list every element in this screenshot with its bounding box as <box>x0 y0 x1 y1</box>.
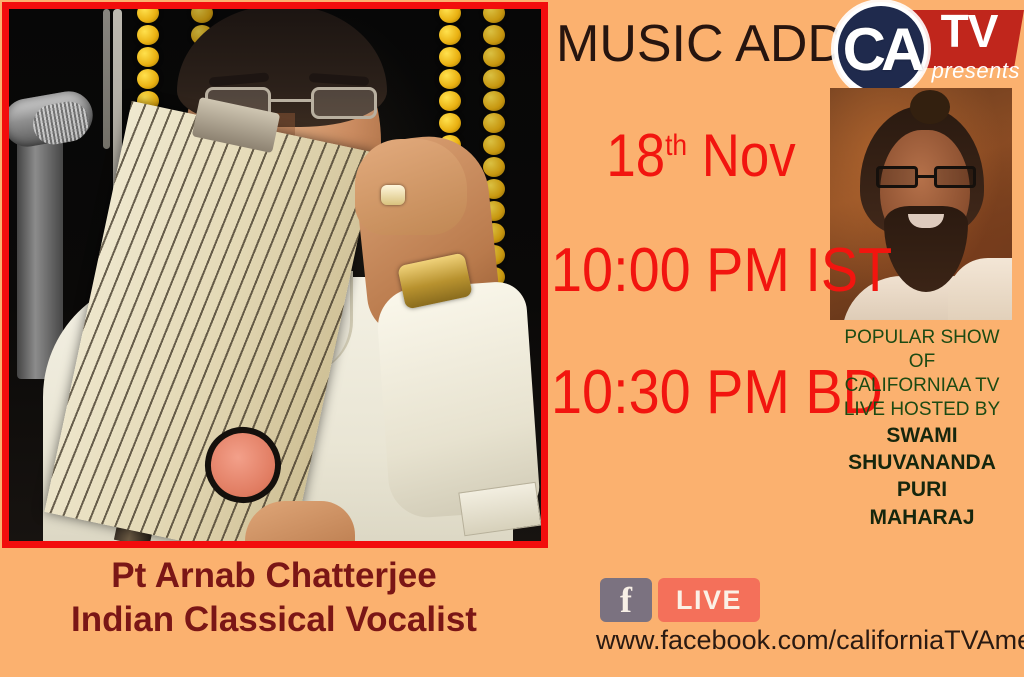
host-name-line: SWAMI <box>826 422 1018 449</box>
finger-ring <box>381 185 405 205</box>
date-suffix: th <box>665 129 687 162</box>
artist-role: Indian Classical Vocalist <box>0 600 548 639</box>
host-name-line: MAHARAJ <box>826 504 1018 531</box>
artist-lower-hand <box>245 501 355 548</box>
artist-photo-background <box>9 9 541 541</box>
facebook-url[interactable]: www.facebook.com/californiaTVAmerica <box>596 625 1024 656</box>
artist-hand <box>355 139 467 235</box>
artist-name: Pt Arnab Chatterjee <box>0 556 548 595</box>
host-info-line: LIVE HOSTED BY <box>826 398 1018 422</box>
host-info-line: OF <box>826 350 1018 374</box>
catv-logo: TV CA presents <box>828 0 1024 96</box>
facebook-icon[interactable]: f <box>600 578 652 622</box>
host-name-line: SHUVANANDA <box>826 449 1018 476</box>
artist-photo <box>2 2 548 548</box>
broadcast-time-bd: 10:30 PM BD <box>551 362 821 424</box>
host-name-line: PURI <box>826 476 1018 503</box>
date-month: Nov <box>702 122 796 189</box>
logo-tv-text: TV <box>914 8 1024 54</box>
broadcast-date: 18th Nov <box>573 126 828 186</box>
live-badge[interactable]: LIVE <box>658 578 760 622</box>
facebook-live-row[interactable]: f LIVE <box>600 578 760 622</box>
host-info-line: POPULAR SHOW <box>826 326 1018 350</box>
logo-ca-text: CA <box>834 2 928 96</box>
eyeglasses-icon <box>876 166 976 188</box>
host-info-block: POPULAR SHOW OF CALIFORNIAA TV LIVE HOST… <box>826 326 1018 531</box>
date-day: 18 <box>606 122 665 189</box>
broadcast-time-ist: 10:00 PM IST <box>551 240 821 302</box>
logo-presents-label: presents <box>932 58 1020 84</box>
hanging-decor <box>103 9 110 149</box>
host-info-line: CALIFORNIAA TV <box>826 374 1018 398</box>
